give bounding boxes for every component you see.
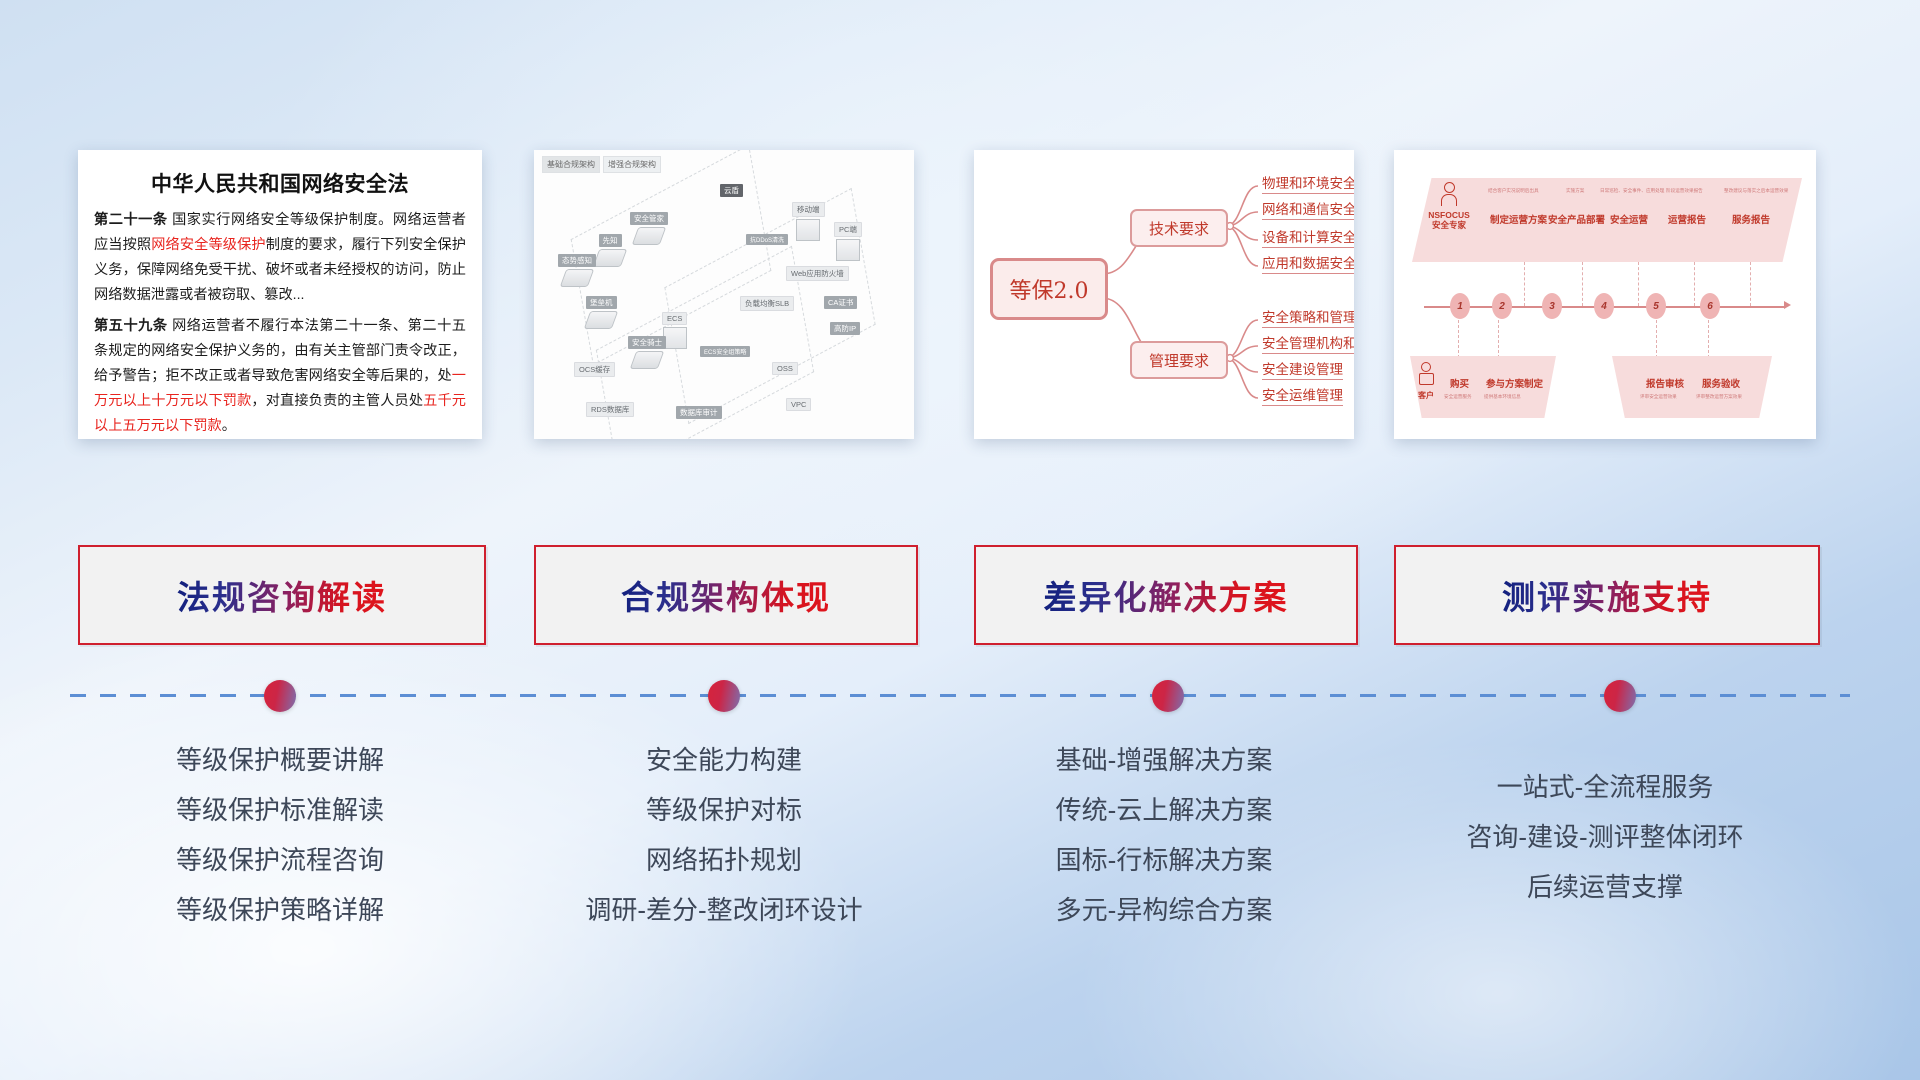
list-item: 后续运营支撑: [1394, 862, 1816, 912]
node-pc-client: PC端: [834, 222, 862, 261]
step-node-2[interactable]: 2: [1492, 293, 1512, 319]
list-item: 等级保护标准解读: [78, 785, 482, 835]
list-item: 网络拓扑规划: [534, 835, 914, 885]
thumbnail-card-row: 中华人民共和国网络安全法 第二十一条 国家实行网络安全等级保护制度。网络运营者应…: [0, 150, 1920, 445]
list-column-4: 一站式-全流程服务 咨询-建设-测评整体闭环 后续运营支撑: [1394, 735, 1816, 912]
node-ocs-cache: OCS缓存: [574, 362, 615, 377]
tick-bottom-5: [1656, 320, 1658, 358]
card-nsfocus-service-flow[interactable]: NSFOCUS 安全专家 结合客户实况说明后出具 制定运营方案 实施方案 安全产…: [1394, 150, 1816, 439]
node-security-knight: 安全骑士: [628, 336, 666, 369]
mindmap-branch-management[interactable]: 管理要求: [1130, 341, 1228, 379]
timeline-node-2[interactable]: [708, 680, 740, 712]
top-step-2-sub: 实施方案: [1566, 188, 1584, 194]
bottom-step-1-sub: 安全运营服务: [1444, 394, 1472, 400]
bottom-step-2-title[interactable]: 参与方案制定: [1486, 376, 1543, 390]
mindmap-leaf-construction-mgmt[interactable]: 安全建设管理: [1262, 358, 1343, 380]
node-vpc: VPC: [786, 398, 811, 411]
list-column-3: 基础-增强解决方案 传统-云上解决方案 国标-行标解决方案 多元-异构综合方案: [974, 735, 1354, 935]
list-item: 等级保护策略详解: [78, 885, 482, 935]
list-item: 基础-增强解决方案: [974, 735, 1354, 785]
card-cybersecurity-law[interactable]: 中华人民共和国网络安全法 第二十一条 国家实行网络安全等级保护制度。网络运营者应…: [78, 150, 482, 439]
law-document: 中华人民共和国网络安全法 第二十一条 国家实行网络安全等级保护制度。网络运营者应…: [78, 150, 482, 439]
list-item: 一站式-全流程服务: [1394, 762, 1816, 812]
step-node-4[interactable]: 4: [1594, 293, 1614, 319]
node-rds-database: RDS数据库: [586, 402, 634, 417]
tab-basic-architecture[interactable]: 基础合规架构: [542, 156, 600, 173]
expert-icon: [1440, 182, 1458, 204]
top-step-3-title[interactable]: 安全运营: [1610, 212, 1648, 226]
mindmap: 等保2.0 技术要求 管理要求 物理和环境安全 网络和通信安全 设备和计算安全 …: [974, 150, 1354, 439]
law-article-21: 第二十一条 国家实行网络安全等级保护制度。网络运营者应当按照网络安全等级保护制度…: [94, 208, 466, 308]
list-item: 调研-差分-整改闭环设计: [534, 885, 914, 935]
mindmap-leaf-device-compute[interactable]: 设备和计算安全: [1262, 226, 1354, 248]
list-item: 安全能力构建: [534, 735, 914, 785]
top-step-4-sub: 阶段运营效果报告: [1666, 188, 1703, 194]
mindmap-leaf-ops-mgmt[interactable]: 安全运维管理: [1262, 384, 1343, 406]
pill-regulation-consulting[interactable]: 法规咨询解读: [78, 545, 486, 645]
bottom-band-right: [1612, 356, 1772, 418]
pill-differentiated-solution[interactable]: 差异化解决方案: [974, 545, 1358, 645]
top-step-4-title[interactable]: 运营报告: [1668, 212, 1706, 226]
customer-label: 客户: [1418, 390, 1434, 401]
node-ca-cert: CA证书: [824, 296, 857, 309]
timeline-node-1[interactable]: [264, 680, 296, 712]
list-item: 传统-云上解决方案: [974, 785, 1354, 835]
pill-label-3: 差异化解决方案: [1044, 571, 1289, 619]
step-node-5[interactable]: 5: [1646, 293, 1666, 319]
node-xianzhi: 先知: [596, 234, 624, 267]
bottom-step-3-sub: 评审安全运营效果: [1640, 394, 1677, 400]
tick-bottom-2: [1498, 320, 1500, 358]
node-waf: Web应用防火墙: [786, 266, 849, 281]
law-article-59: 第五十九条 网络运营者不履行本法第二十一条、第二十五条规定的网络安全保护义务的，…: [94, 314, 466, 439]
list-item: 等级保护对标: [534, 785, 914, 835]
architecture-diagram: 基础合规架构 增强合规架构 云盾 安全管家 先知 态势感知 移动端: [534, 150, 914, 439]
card-dengbao-mindmap[interactable]: 等保2.0 技术要求 管理要求 物理和环境安全 网络和通信安全 设备和计算安全 …: [974, 150, 1354, 439]
list-item: 国标-行标解决方案: [974, 835, 1354, 885]
step-node-6[interactable]: 6: [1700, 293, 1720, 319]
bottom-step-1-title[interactable]: 购买: [1450, 376, 1469, 390]
nsfocus-logo: NSFOCUS 安全专家: [1418, 210, 1480, 230]
list-item: 等级保护流程咨询: [78, 835, 482, 885]
architecture-tabs: 基础合规架构 增强合规架构: [542, 156, 661, 173]
top-step-2-title[interactable]: 安全产品部署: [1548, 212, 1605, 226]
bottom-step-2-sub: 提供基本环境信息: [1484, 394, 1521, 400]
mindmap-leaf-policy-system[interactable]: 安全策略和管理制度: [1262, 306, 1354, 328]
mindmap-branch-technical[interactable]: 技术要求: [1130, 209, 1228, 247]
bottom-step-4-title[interactable]: 服务验收: [1702, 376, 1740, 390]
pill-label-1: 法规咨询解读: [177, 571, 387, 619]
slide-canvas: 中华人民共和国网络安全法 第二十一条 国家实行网络安全等级保护制度。网络运营者应…: [0, 0, 1920, 1080]
node-situational-awareness: 态势感知: [558, 254, 596, 287]
nsfocus-flow-diagram: NSFOCUS 安全专家 结合客户实况说明后出具 制定运营方案 实施方案 安全产…: [1394, 150, 1816, 439]
pill-assessment-support[interactable]: 测评实施支持: [1394, 545, 1820, 645]
mindmap-root-node[interactable]: 等保2.0: [990, 258, 1108, 320]
node-anti-ddos-ip: 高防IP: [830, 322, 860, 335]
customer-icon: [1418, 362, 1434, 384]
pill-label-4: 测评实施支持: [1502, 571, 1712, 619]
tick-6: [1750, 262, 1752, 306]
step-node-1[interactable]: 1: [1450, 293, 1470, 319]
node-security-butler: 安全管家: [630, 212, 668, 245]
node-ecs-security-group: ECS安全组策略: [700, 346, 750, 357]
node-oss: OSS: [772, 362, 798, 375]
bottom-step-4-sub: 评审整改运营方案效果: [1696, 394, 1742, 400]
step-node-3[interactable]: 3: [1542, 293, 1562, 319]
node-slb: 负载均衡SLB: [740, 296, 794, 311]
pill-compliance-architecture[interactable]: 合规架构体现: [534, 545, 918, 645]
top-step-5-sub: 整改建议与落实之后本运营效果: [1724, 188, 1788, 194]
top-step-3-sub: 日常巡检、安全事件、应用处理: [1600, 188, 1664, 194]
tick-bottom-6: [1708, 320, 1710, 358]
article-21-label: 第二十一条: [94, 212, 168, 228]
node-cloud-shield: 云盾: [720, 184, 743, 197]
mindmap-leaf-app-data[interactable]: 应用和数据安全: [1262, 252, 1354, 274]
article-59-text-b: ，对直接负责的主管人员处: [251, 393, 423, 409]
dashed-timeline: [70, 694, 1850, 697]
list-column-2: 安全能力构建 等级保护对标 网络拓扑规划 调研-差分-整改闭环设计: [534, 735, 914, 935]
node-ddos-scrubbing: 抗DDoS清洗: [746, 234, 788, 245]
article-59-label: 第五十九条: [94, 318, 168, 334]
list-item: 多元-异构综合方案: [974, 885, 1354, 935]
node-mobile-client: 移动端: [792, 202, 825, 241]
list-item: 咨询-建设-测评整体闭环: [1394, 812, 1816, 862]
tick-3: [1582, 262, 1584, 306]
mindmap-leaf-network-comm[interactable]: 网络和通信安全: [1262, 198, 1354, 220]
bottom-step-3-title[interactable]: 报告审核: [1646, 376, 1684, 390]
mindmap-leaf-physical-env[interactable]: 物理和环境安全: [1262, 172, 1354, 194]
card-compliance-architecture[interactable]: 基础合规架构 增强合规架构 云盾 安全管家 先知 态势感知 移动端: [534, 150, 914, 439]
tick-2: [1524, 262, 1526, 306]
node-bastion-host: 堡垒机: [586, 296, 617, 329]
timeline-node-4[interactable]: [1604, 680, 1636, 712]
article-59-text-c: 。: [222, 418, 236, 434]
list-column-1: 等级保护概要讲解 等级保护标准解读 等级保护流程咨询 等级保护策略详解: [78, 735, 482, 935]
top-step-5-title[interactable]: 服务报告: [1732, 212, 1770, 226]
tick-bottom-1: [1458, 320, 1460, 358]
tick-5: [1694, 262, 1696, 306]
article-21-highlight: 网络安全等级保护: [151, 237, 266, 253]
timeline-node-3[interactable]: [1152, 680, 1184, 712]
list-item: 等级保护概要讲解: [78, 735, 482, 785]
node-database-audit: 数据库审计: [676, 406, 722, 419]
top-step-1-sub: 结合客户实况说明后出具: [1488, 188, 1539, 194]
tick-4: [1638, 262, 1640, 306]
tab-enhanced-architecture[interactable]: 增强合规架构: [603, 156, 661, 173]
section-title-row: 法规咨询解读 合规架构体现 差异化解决方案 测评实施支持: [0, 545, 1920, 645]
pill-label-2: 合规架构体现: [621, 571, 831, 619]
law-title: 中华人民共和国网络安全法: [94, 168, 466, 198]
mindmap-leaf-org-personnel[interactable]: 安全管理机构和人员: [1262, 332, 1354, 354]
top-step-1-title[interactable]: 制定运营方案: [1490, 212, 1547, 226]
axis-arrow: [1784, 301, 1791, 309]
